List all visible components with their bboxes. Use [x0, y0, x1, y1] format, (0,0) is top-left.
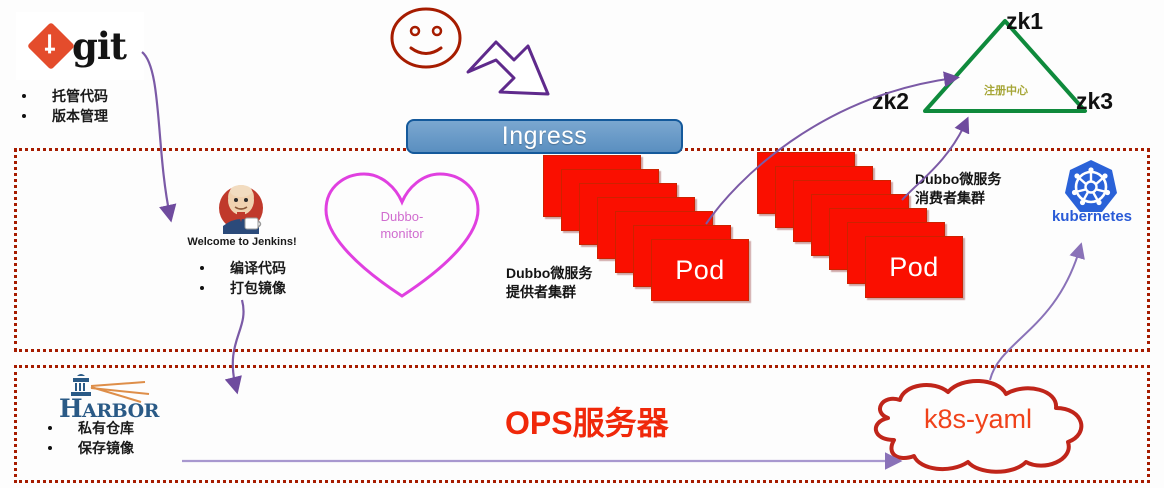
zookeeper-node-zk2: zk2 — [872, 88, 909, 115]
kubernetes-caption: kubernetes — [1037, 208, 1147, 225]
caption-line1: Dubbo微服务 — [506, 264, 592, 283]
architecture-diagram: git 托管代码 版本管理 Welcome to Jenkins! — [0, 0, 1164, 488]
harbor-bullet-0: 私有仓库 — [78, 418, 134, 438]
bullet-dot-icon — [48, 446, 52, 450]
git-logo-text: git — [72, 24, 126, 68]
caption-line2: 消费者集群 — [915, 189, 1001, 208]
jenkins-bullet-list: 编译代码 打包镜像 — [200, 258, 286, 298]
git-logo: git — [16, 12, 144, 80]
bullet-dot-icon — [22, 114, 26, 118]
ingress-label: Ingress — [502, 122, 587, 151]
harbor-bullet-list: 私有仓库 保存镜像 — [48, 418, 134, 458]
pod-box-front: Pod — [865, 236, 963, 298]
caption-line2: 提供者集群 — [506, 283, 592, 302]
pod-stack-provider-caption: Dubbo微服务 提供者集群 — [506, 264, 592, 302]
jenkins-caption: Welcome to Jenkins! — [177, 236, 307, 248]
list-item: 版本管理 — [22, 106, 108, 126]
list-item: 保存镜像 — [48, 438, 134, 458]
pod-label: Pod — [889, 252, 939, 283]
list-item: 私有仓库 — [48, 418, 134, 438]
list-item: 编译代码 — [200, 258, 286, 278]
list-item: 托管代码 — [22, 86, 108, 106]
pod-stack-consumer-caption: Dubbo微服务 消费者集群 — [915, 170, 1001, 208]
k8s-yaml-label: k8s-yaml — [888, 404, 1068, 435]
pod-box-front: Pod — [651, 239, 749, 301]
dubbo-monitor-label-line1: Dubbo- — [356, 208, 448, 225]
caption-line1: Dubbo微服务 — [915, 170, 1001, 189]
harbor-bullet-1: 保存镜像 — [78, 438, 134, 458]
zookeeper-center-label: 注册中心 — [952, 82, 1060, 98]
zookeeper-triangle-icon[interactable] — [920, 16, 1090, 116]
zookeeper-node-zk3: zk3 — [1076, 88, 1113, 115]
ops-server-label: OPS服务器 — [505, 398, 669, 444]
bullet-dot-icon — [200, 266, 204, 270]
git-diamond-icon — [27, 22, 75, 70]
block-arrow-down-right-icon — [462, 34, 558, 118]
pod-label: Pod — [675, 255, 725, 286]
bullet-dot-icon — [22, 94, 26, 98]
dubbo-monitor-label-line2: monitor — [356, 225, 448, 242]
dubbo-monitor-label: Dubbo- monitor — [356, 208, 448, 242]
bullet-dot-icon — [200, 286, 204, 290]
git-bullet-list: 托管代码 版本管理 — [22, 86, 108, 126]
jenkins-butler-icon — [217, 182, 265, 234]
zookeeper-node-zk1: zk1 — [1006, 8, 1043, 35]
git-bullet-1: 版本管理 — [52, 106, 108, 126]
jenkins-bullet-1: 打包镜像 — [230, 278, 286, 298]
smiley-face-icon — [389, 6, 463, 70]
jenkins-bullet-0: 编译代码 — [230, 258, 286, 278]
list-item: 打包镜像 — [200, 278, 286, 298]
git-bullet-0: 托管代码 — [52, 86, 108, 106]
bullet-dot-icon — [48, 426, 52, 430]
ingress-node[interactable]: Ingress — [406, 119, 683, 154]
